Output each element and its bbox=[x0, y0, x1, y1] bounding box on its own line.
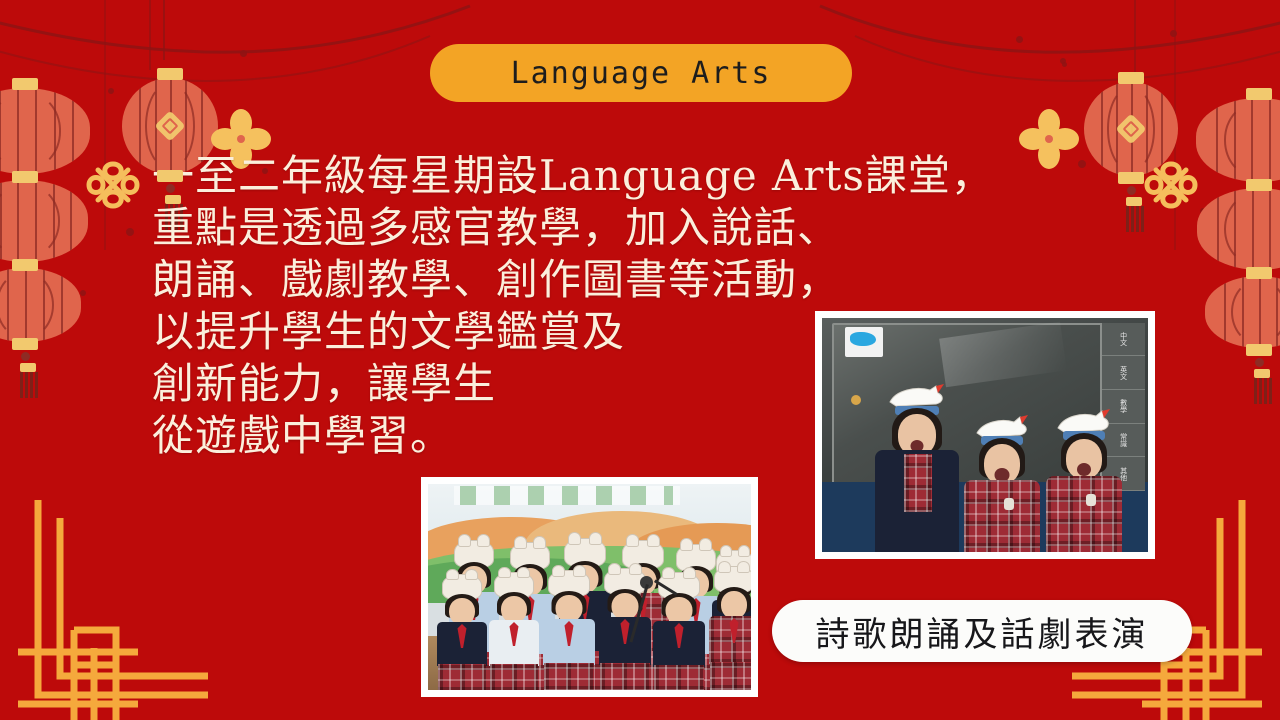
confetti-dot bbox=[1062, 62, 1067, 67]
confetti-dot bbox=[240, 50, 247, 57]
subject-label: 英文 bbox=[1119, 366, 1129, 380]
chinese-knot-left-icon bbox=[82, 158, 144, 212]
student-figure bbox=[650, 570, 708, 690]
lantern-left-cluster bbox=[0, 78, 90, 398]
body-line-3: 朗誦、戲劇教學、創作圖書等活動， bbox=[152, 254, 1052, 306]
photo-caption-badge: 詩歌朗誦及話劇表演 bbox=[772, 600, 1192, 662]
lantern-tassel bbox=[20, 352, 30, 398]
student-figure bbox=[874, 384, 960, 552]
lantern-tassel bbox=[1254, 358, 1264, 404]
body-line-1: 一至二年級每星期設Language Arts課堂， bbox=[152, 150, 1052, 202]
student-figure bbox=[962, 400, 1042, 552]
student-figure bbox=[540, 570, 598, 690]
chinese-knot-right-icon bbox=[1140, 158, 1202, 212]
student-figure bbox=[1044, 404, 1124, 552]
confetti-dot bbox=[108, 88, 114, 94]
student-figure bbox=[706, 566, 751, 690]
slide-canvas: Language Arts 一至二年級每星期設Language Arts課堂， … bbox=[0, 0, 1280, 720]
stage-photo bbox=[421, 477, 758, 697]
title-banner: Language Arts bbox=[430, 44, 852, 102]
caption-text: 詩歌朗誦及話劇表演 bbox=[816, 607, 1149, 656]
page-title: Language Arts bbox=[511, 56, 772, 91]
confetti-dot bbox=[1016, 36, 1023, 43]
subject-label: 中文 bbox=[1119, 332, 1129, 346]
body-line-2: 重點是透過多感官教學，加入說話、 bbox=[152, 202, 1052, 254]
corner-bottom-left-ornament bbox=[18, 490, 208, 720]
lantern-right-cluster bbox=[1196, 88, 1280, 404]
lantern-tassel bbox=[1126, 186, 1136, 232]
student-figure bbox=[486, 572, 542, 690]
student-figure bbox=[434, 574, 490, 690]
confetti-dot bbox=[1170, 30, 1177, 37]
classroom-photo: 中文 英文 數學 常識 其他 bbox=[815, 311, 1155, 559]
